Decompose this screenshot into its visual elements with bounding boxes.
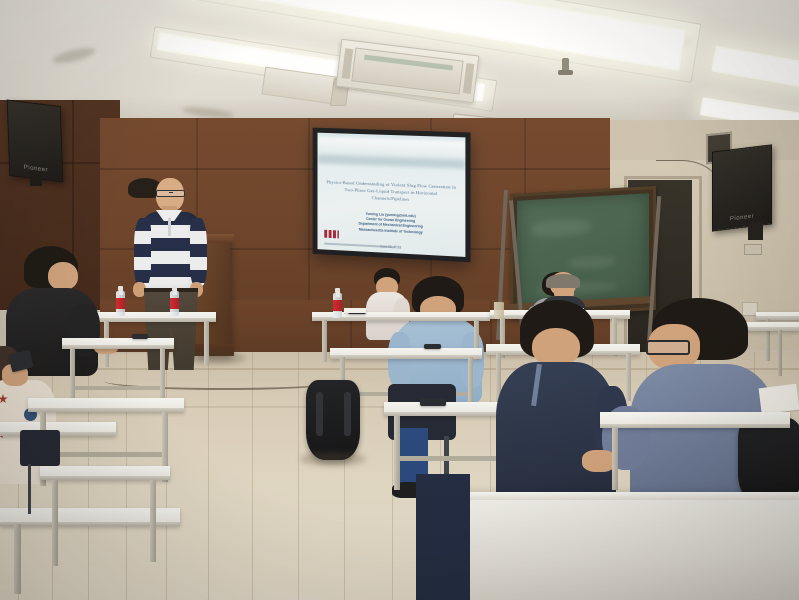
notebook-paper [344,308,366,313]
chair[interactable] [20,430,60,466]
speaker-bracket [748,222,763,240]
seminar-room-photo: Pioneer Pioneer Physics-Based Understand… [0,0,799,600]
wall-speaker-left-icon: Pioneer [7,99,64,182]
wall-speaker-right-icon: Pioneer [712,144,772,231]
water-bottle [116,286,125,316]
speaker-bracket [30,172,42,186]
table-leg [394,416,400,490]
foreground-table-edge [452,492,799,500]
hair [546,274,580,288]
table-leg [322,320,327,362]
slide-content: Physics-Based Understanding of Violent S… [318,162,466,257]
backpack-strap [316,392,323,436]
chair-leg [28,464,31,514]
table-brace [44,452,162,457]
wall-sign [744,244,762,255]
eyeglasses-icon [646,340,690,355]
presenter-placket [168,218,171,236]
audience-member-7 [498,300,618,520]
table-brace [398,456,512,461]
presenter-right-arm [190,218,207,286]
table-row [96,312,216,322]
smartphone-on-desk [424,344,441,349]
table-leg [612,428,618,490]
smartphone-on-desk [420,398,446,406]
table-row [62,338,174,349]
fire-sprinkler-icon [562,58,569,74]
slide-surface: Physics-Based Understanding of Violent S… [318,133,466,257]
table-leg [14,524,21,594]
table-leg [70,348,75,404]
table-row [600,412,790,428]
arm [388,332,412,388]
table-row [28,398,184,412]
table-leg [52,480,58,566]
backpack-shadow [300,452,366,466]
head [48,262,78,290]
notebook-paper [759,384,799,414]
table-row [330,348,482,359]
smartphone-on-desk [132,334,148,339]
eyeglasses-icon [156,190,185,197]
table-leg [204,321,209,365]
foreground-table [454,496,799,600]
presenter-left-arm [134,218,151,286]
table-row [40,466,170,480]
slide-title: Physics-Based Understanding of Violent S… [326,178,456,204]
table-leg [160,348,165,402]
projection-screen: Physics-Based Understanding of Violent S… [313,128,471,263]
mit-logo-icon [324,230,339,239]
table-leg [468,357,473,407]
smartphone-held [8,350,34,373]
backpack-strap [344,392,351,436]
backpack [306,380,360,460]
table-leg [150,480,156,562]
head [532,328,580,366]
water-bottle [333,288,342,318]
water-bottle [170,286,179,316]
forearm [582,450,616,472]
slide-author-block: Yuming Liu (yuming@mit.edu) Center for O… [326,210,456,237]
audience-member-7-legs [416,474,470,600]
table-brace [74,386,160,390]
